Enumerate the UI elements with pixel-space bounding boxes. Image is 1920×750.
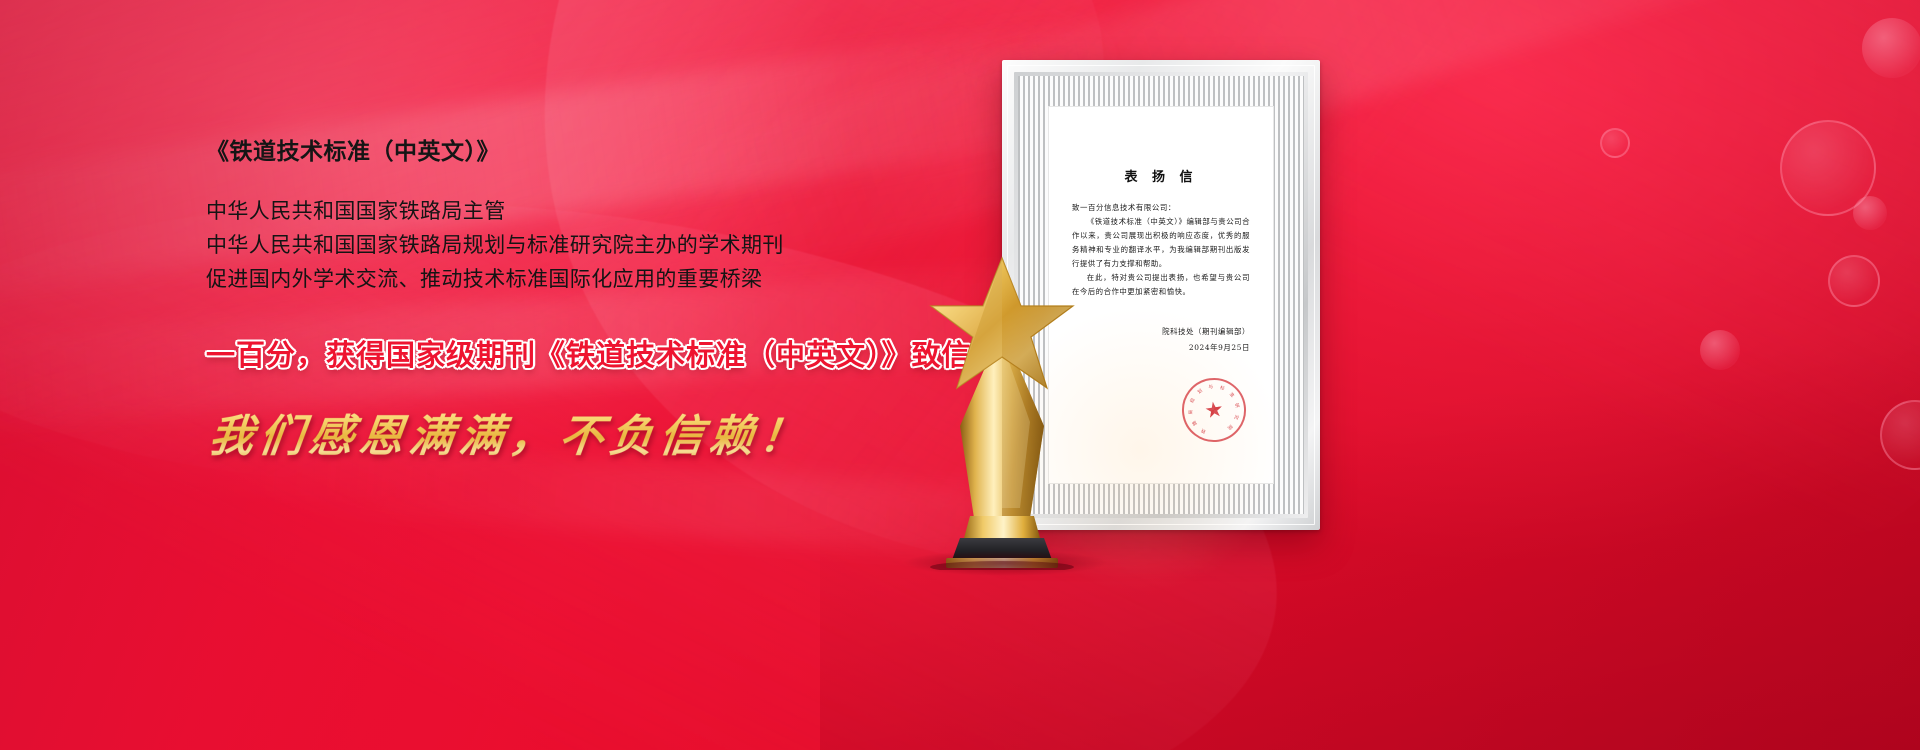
journal-title: 《铁道技术标准（中英文）》 — [206, 140, 986, 163]
trophy-shadow — [902, 550, 1108, 576]
certificate-salutation: 致一百分信息技术有限公司： — [1072, 201, 1250, 215]
slogan: 我们感恩满满，不负信赖！ — [206, 400, 814, 464]
gold-star-trophy — [912, 250, 1092, 570]
bubble-solid-small — [1862, 18, 1920, 78]
text-block: 《铁道技术标准（中英文）》 中华人民共和国国家铁路局主管 中华人民共和国国家铁路… — [206, 140, 986, 297]
bubble-solid-mid — [1700, 330, 1740, 370]
seal-ring-text: 铁路局规划与标准研究院 — [1180, 376, 1248, 444]
certificate-signature-org: 院科技处（期刊编辑部） — [1072, 325, 1250, 339]
description-line-1: 中华人民共和国国家铁路局主管 — [206, 195, 986, 229]
bubble-ring-small — [1600, 128, 1630, 158]
background-shadow-left — [0, 0, 760, 750]
bubble-ring-mid — [1828, 255, 1880, 307]
bubble-solid-tiny — [1853, 196, 1887, 230]
trophy-svg — [912, 250, 1092, 570]
certificate-signature-date: 2024年9月25日 — [1072, 341, 1250, 355]
certificate-title: 表 扬 信 — [1072, 166, 1250, 185]
official-red-seal: 铁路局规划与标准研究院 — [1178, 374, 1250, 446]
certificate-paragraph-2: 在此，特对贵公司提出表扬，也希望与贵公司在今后的合作中更加紧密和愉快。 — [1072, 271, 1250, 299]
promo-banner: 《铁道技术标准（中英文）》 中华人民共和国国家铁路局主管 中华人民共和国国家铁路… — [0, 0, 1920, 750]
certificate-paragraph-1: 《铁道技术标准（中英文）》编辑部与贵公司合作以来，贵公司展现出积极的响应态度，优… — [1072, 215, 1250, 271]
description-line-2: 中华人民共和国国家铁路局规划与标准研究院主办的学术期刊 — [206, 229, 986, 263]
description-line-3: 促进国内外学术交流、推动技术标准国际化应用的重要桥梁 — [206, 263, 986, 297]
